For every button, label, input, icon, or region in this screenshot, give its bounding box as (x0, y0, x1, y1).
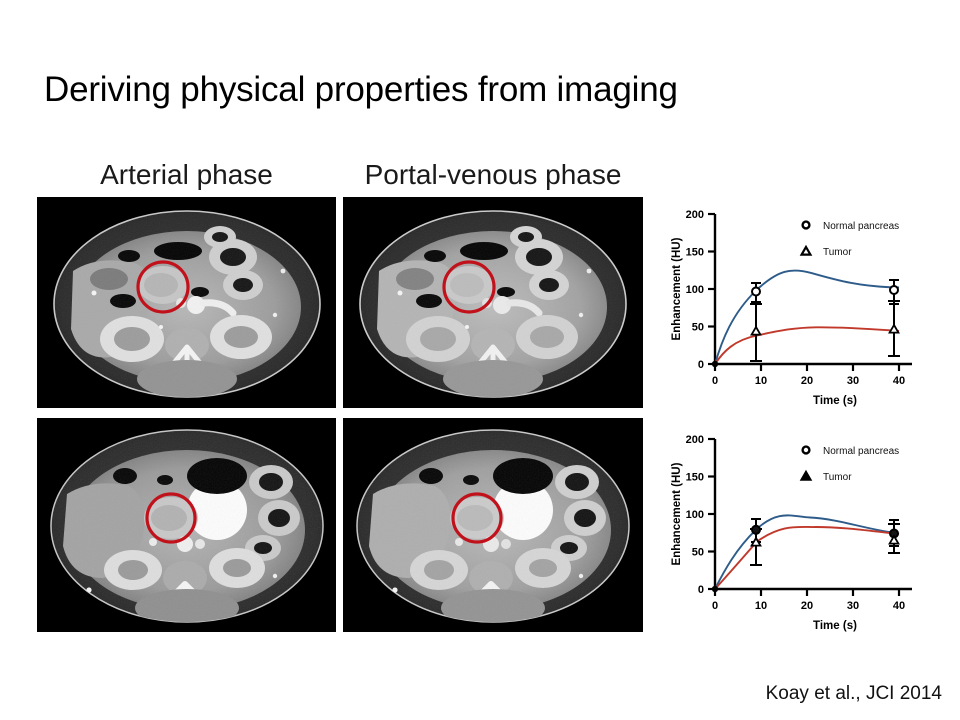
legend-label-tumor: Tumor (823, 472, 852, 483)
y-tick-200: 200 (686, 434, 704, 446)
y-tick-200: 200 (686, 209, 704, 221)
y-tick-150: 150 (686, 472, 704, 484)
x-tick-40: 40 (893, 375, 905, 387)
y-tick-0: 0 (698, 584, 704, 596)
y-tick-0: 0 (698, 359, 704, 371)
x-tick-30: 30 (847, 600, 859, 612)
x-tick-20: 20 (801, 600, 813, 612)
ct-image-patient1-arterial (37, 197, 336, 408)
x-axis-title: Time (s) (813, 620, 857, 632)
x-tick-0: 0 (712, 375, 718, 387)
legend-label-normal-pancreas: Normal pancreas (823, 221, 899, 232)
ct-image-patient2-arterial (37, 418, 336, 632)
enhancement-curve-chart-patient2: 0 50 100 150 200 0 10 20 30 40 Time (s) … (660, 425, 952, 637)
ct-image-patient1-portal-venous (343, 197, 643, 408)
x-tick-10: 10 (755, 375, 767, 387)
legend-label-tumor: Tumor (823, 247, 852, 258)
y-tick-50: 50 (692, 322, 704, 334)
y-tick-100: 100 (686, 284, 704, 296)
y-axis-title: Enhancement (HU) (671, 462, 683, 565)
citation-text: Koay et al., JCI 2014 (766, 682, 942, 706)
column-header-arterial-phase: Arterial phase (37, 158, 336, 192)
column-header-portal-venous-phase: Portal-venous phase (343, 158, 643, 192)
legend-circle-icon (803, 222, 810, 229)
legend-circle-icon (803, 447, 810, 454)
x-tick-20: 20 (801, 375, 813, 387)
origin-marker (712, 361, 718, 367)
x-tick-30: 30 (847, 375, 859, 387)
x-tick-10: 10 (755, 600, 767, 612)
origin-marker (712, 586, 718, 592)
y-tick-50: 50 (692, 547, 704, 559)
ct-image-patient2-portal-venous (343, 418, 643, 632)
legend-label-normal-pancreas: Normal pancreas (823, 446, 899, 457)
page-title: Deriving physical properties from imagin… (44, 68, 924, 112)
x-tick-0: 0 (712, 600, 718, 612)
enhancement-curve-chart-patient1: 0 50 100 150 200 0 10 20 30 40 Time (s) … (660, 200, 952, 412)
y-axis-title: Enhancement (HU) (671, 237, 683, 340)
x-tick-40: 40 (893, 600, 905, 612)
x-axis-title: Time (s) (813, 395, 857, 407)
y-tick-150: 150 (686, 247, 704, 259)
y-tick-100: 100 (686, 509, 704, 521)
